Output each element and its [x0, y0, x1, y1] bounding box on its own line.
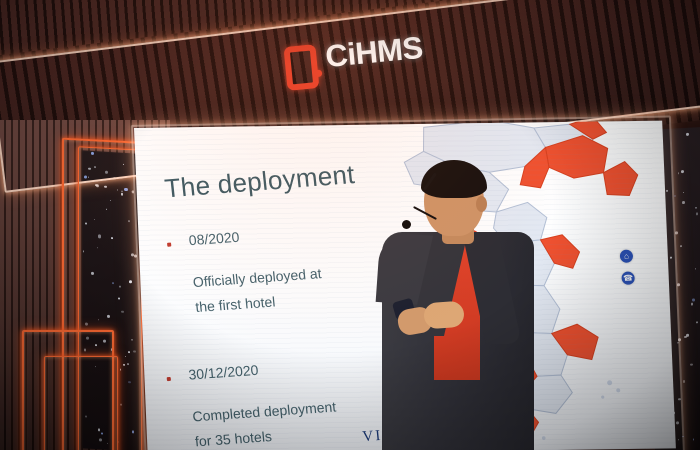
speaker-ear: [476, 196, 487, 212]
star-dot-icon: [696, 213, 698, 216]
star-dot-icon: [683, 380, 685, 382]
speaker-person: [372, 160, 542, 450]
star-dot-icon: [683, 192, 684, 193]
bullet-dot-icon: [167, 377, 171, 381]
bullet-body: Completed deployment for 35 hotels: [191, 394, 339, 450]
slide-bullet-1: 08/2020 Officially deployed at the first…: [166, 223, 325, 321]
speaker-hand-right: [423, 301, 465, 330]
slide-title: The deployment: [163, 159, 356, 205]
star-dot-icon: [674, 195, 676, 197]
star-dot-icon: [680, 245, 683, 248]
star-dot-icon: [686, 334, 689, 337]
headset-mic-icon: [402, 220, 411, 229]
bullet-body: Officially deployed at the first hotel: [192, 261, 325, 320]
bullet-date: 08/2020: [188, 223, 318, 248]
star-dot-icon: [681, 170, 684, 173]
bullet-date: 30/12/2020: [188, 357, 333, 383]
cihms-logo-text: CiHMS: [324, 30, 424, 75]
logo-dot-icon: [315, 70, 323, 78]
slide-bullet-2: 30/12/2020 Completed deployment for 35 h…: [166, 357, 340, 450]
star-dot-icon: [678, 172, 680, 174]
star-dot-icon: [691, 303, 694, 306]
star-dot-icon: [692, 299, 695, 302]
star-dot-icon: [696, 322, 698, 324]
star-dot-icon: [684, 336, 687, 339]
stage-photo: CiHMS The deployment: [0, 0, 700, 450]
neon-frame-lower-left-inner: [44, 356, 118, 450]
bullet-dot-icon: [167, 242, 171, 246]
star-dot-icon: [695, 268, 697, 270]
rounded-square-outline-icon: [283, 44, 319, 91]
star-dot-icon: [690, 363, 693, 366]
star-dot-icon: [693, 439, 694, 440]
star-dot-icon: [682, 201, 685, 204]
star-dot-icon: [686, 133, 689, 136]
star-dot-icon: [695, 207, 697, 209]
